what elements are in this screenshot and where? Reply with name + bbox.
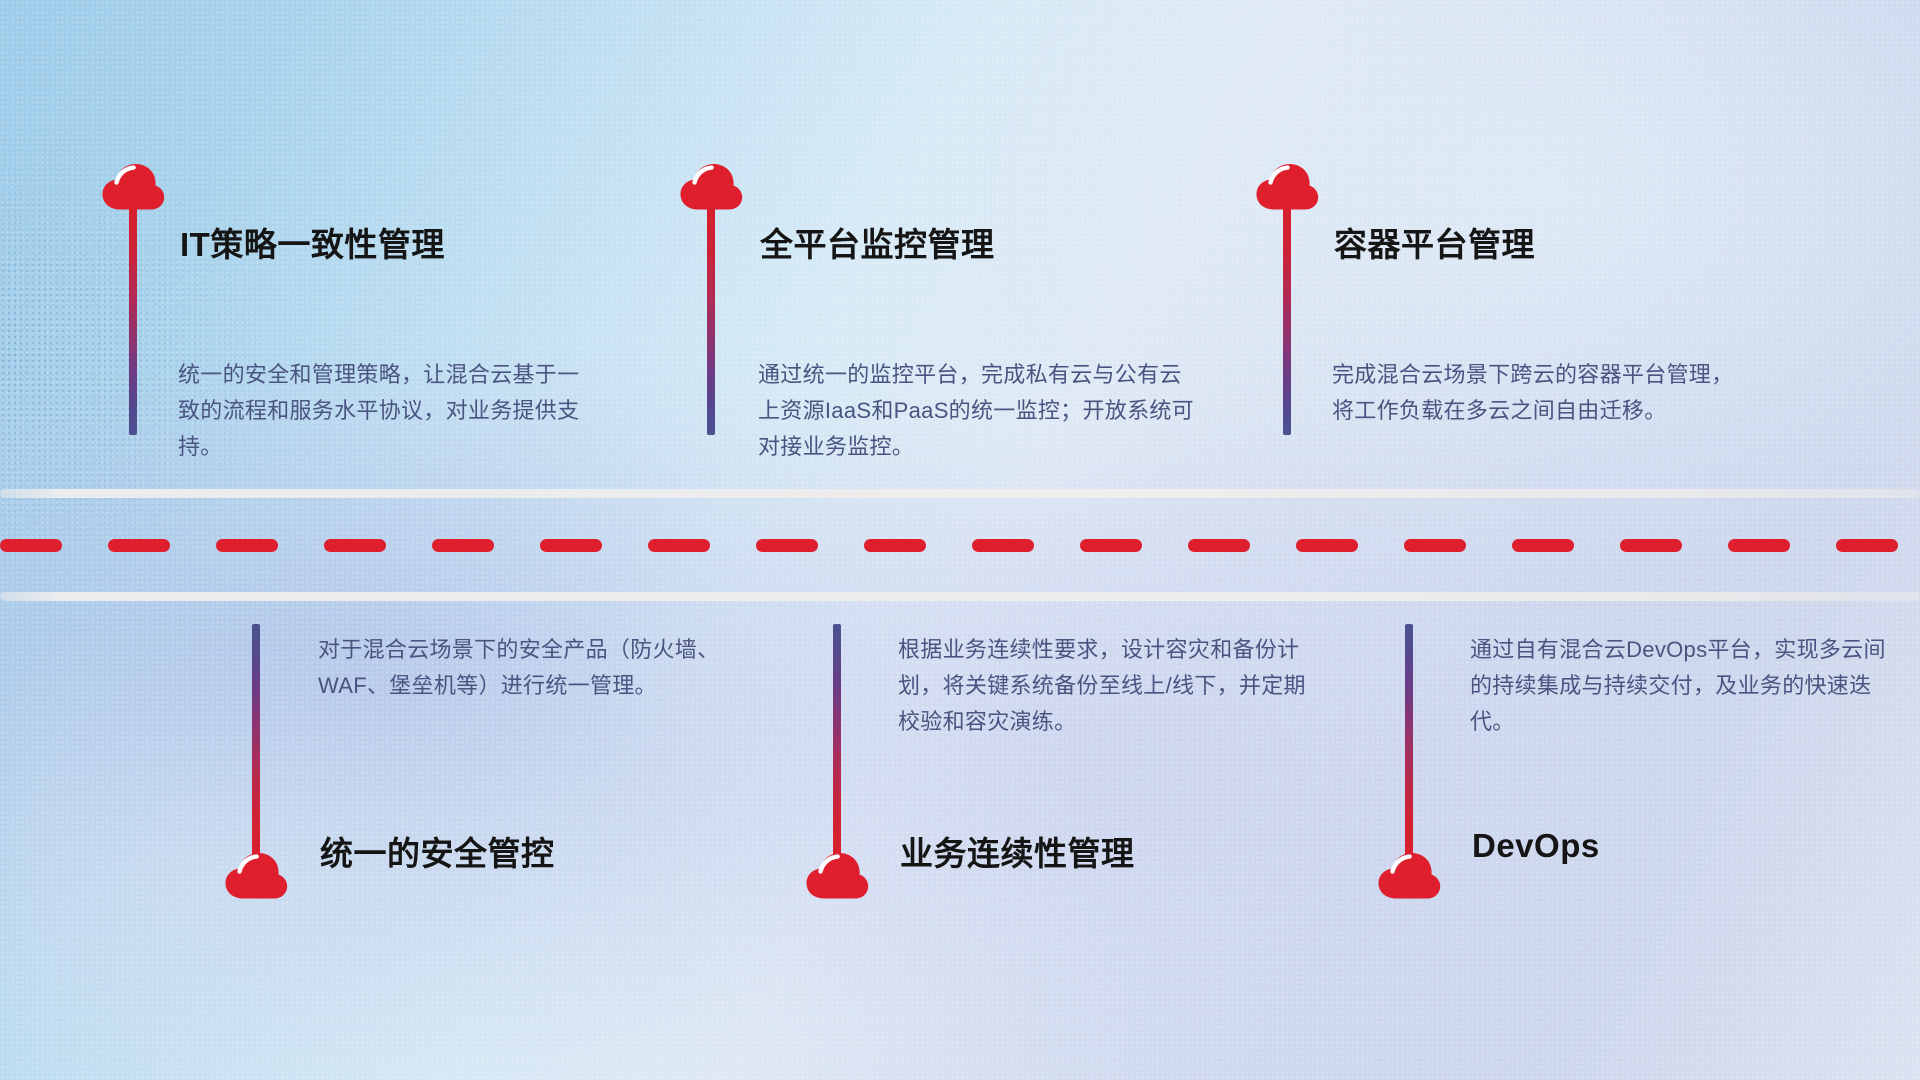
pin-stem [707, 207, 715, 435]
pin-body-container-platform: 完成混合云场景下跨云的容器平台管理，将工作负载在多云之间自由迁移。 [1332, 357, 1752, 429]
cloud-icon [100, 163, 166, 211]
hybrid-cloud-capability-infographic: IT策略一致性管理 统一的安全和管理策略，让混合云基于一致的流程和服务水平协议，… [0, 0, 1920, 1080]
cloud-icon [1376, 852, 1442, 900]
pin-body-unified-security: 对于混合云场景下的安全产品（防火墙、WAF、堡垒机等）进行统一管理。 [318, 632, 738, 704]
road-divider [0, 489, 1920, 601]
pin-stem [1283, 207, 1291, 435]
pin-title-it-policy: IT策略一致性管理 [180, 218, 445, 266]
cloud-icon [1254, 163, 1320, 211]
pin-body-it-policy: 统一的安全和管理策略，让混合云基于一致的流程和服务水平协议，对业务提供支持。 [178, 357, 598, 465]
pin-body-platform-monitoring: 通过统一的监控平台，完成私有云与公有云上资源IaaS和PaaS的统一监控；开放系… [758, 357, 1198, 465]
road-edge-bottom [0, 592, 1920, 601]
pin-title-business-continuity: 业务连续性管理 [900, 827, 1135, 875]
pin-stem [833, 624, 841, 856]
cloud-icon [678, 163, 744, 211]
pin-top-1 [100, 163, 166, 211]
pin-stem [129, 207, 137, 435]
pin-title-devops: DevOps [1472, 827, 1600, 865]
cloud-icon [804, 852, 870, 900]
pin-title-unified-security: 统一的安全管控 [320, 827, 555, 875]
cloud-icon [223, 852, 289, 900]
pin-title-platform-monitoring: 全平台监控管理 [760, 218, 995, 266]
pin-stem [252, 624, 260, 856]
pin-title-container-platform: 容器平台管理 [1334, 218, 1535, 266]
pin-top-2 [678, 163, 744, 211]
pin-stem [1405, 624, 1413, 856]
pin-top-3 [1254, 163, 1320, 211]
road-center-dashes [0, 539, 1920, 552]
pin-body-devops: 通过自有混合云DevOps平台，实现多云间的持续集成与持续交付，及业务的快速迭代… [1470, 632, 1890, 740]
pin-body-business-continuity: 根据业务连续性要求，设计容灾和备份计划，将关键系统备份至线上/线下，并定期校验和… [898, 632, 1318, 740]
road-edge-top [0, 489, 1920, 498]
